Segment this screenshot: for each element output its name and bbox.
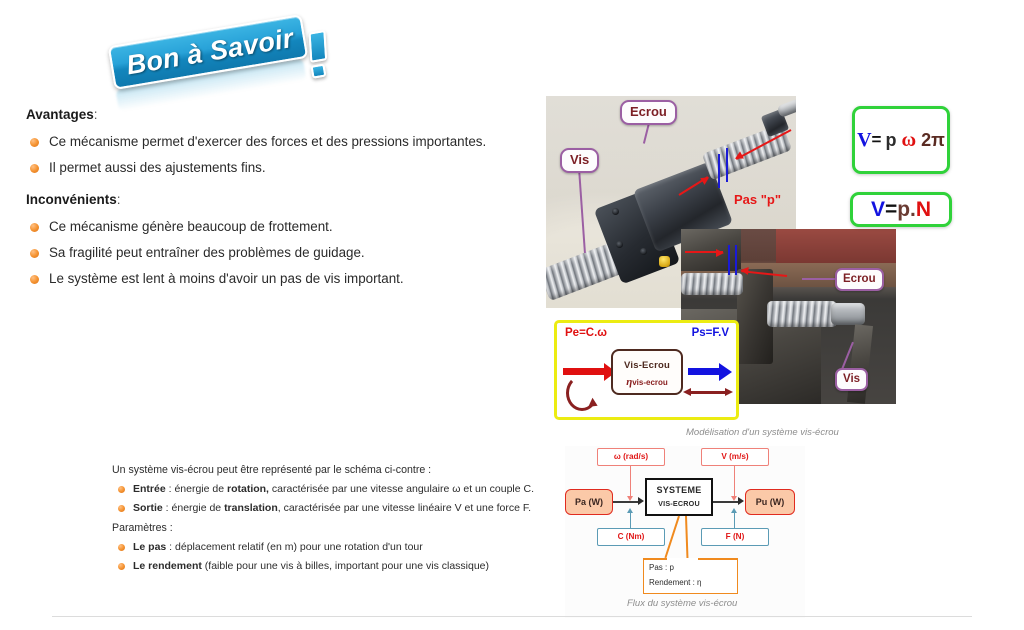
translation-label: translation — [224, 502, 278, 514]
left-text-column: Avantages: Ce mécanisme permet d'exercer… — [26, 105, 546, 301]
io-list: Entrée : énergie de rotation, caractéris… — [112, 480, 562, 518]
advantages-colon: : — [94, 107, 98, 122]
bottom-intro: Un système vis-écrou peut être représent… — [112, 462, 562, 479]
vise-screw-right — [767, 301, 837, 327]
formula-omega-symbol: ω — [901, 129, 916, 151]
pitch-arrow-left — [685, 251, 723, 253]
drawbacks-list: Ce mécanisme génère beaucoup de frotteme… — [26, 214, 546, 292]
grease-nipple — [659, 256, 670, 267]
formula-p-symbol: p — [885, 130, 896, 150]
input-power-arrow — [563, 368, 605, 375]
screw-end-shaft — [777, 98, 796, 118]
flow-box-omega: ω (rad/s) — [597, 448, 665, 466]
formula-vpn-box: V=p.N — [850, 192, 952, 227]
flow-box-pa: Pa (W) — [565, 489, 613, 515]
parameters-list: Le pas : déplacement relatif (en m) pour… — [112, 538, 562, 576]
list-item: Ce mécanisme génère beaucoup de frotteme… — [26, 214, 546, 240]
pitch-bar-left — [728, 245, 730, 275]
flange-bolt-hole — [616, 241, 623, 248]
formula-v-symbol: V — [857, 129, 871, 152]
drawback-text: Sa fragilité peut entraîner des problème… — [49, 245, 365, 260]
formula2-p-symbol: p. — [897, 198, 916, 222]
pitch-bar-right — [726, 148, 728, 182]
exclamation-stem — [309, 30, 328, 63]
callout-ecrou-top: Ecrou — [620, 100, 677, 125]
entree-label: Entrée — [133, 483, 166, 495]
flow-caption: Flux du système vis-écrou — [627, 598, 737, 609]
input-power-label: Pe=C.ω — [565, 327, 607, 339]
advantages-heading-label: Avantages — [26, 107, 94, 122]
orange-params-line2: Rendement : η — [649, 576, 701, 589]
flange-bolt-hole — [612, 208, 619, 215]
advantage-text: Ce mécanisme permet d'exercer des forces… — [49, 134, 486, 149]
orange-params-line1: Pas : p — [649, 561, 674, 574]
rendement-description: (faible pour une vis à billes, important… — [202, 560, 489, 572]
list-item: Le système est lent à moins d'avoir un p… — [26, 266, 546, 292]
pitch-bar-left — [718, 154, 720, 188]
advantage-text: Il permet aussi des ajustements fins. — [49, 160, 266, 175]
bullet-icon — [30, 249, 39, 258]
orange-leader-right — [685, 516, 688, 560]
system-subtitle: VIS-ECROU — [658, 499, 700, 509]
callout-vis-bottom: Vis — [835, 368, 868, 391]
drawback-text: Ce mécanisme génère beaucoup de frotteme… — [49, 219, 333, 234]
bullet-icon — [118, 486, 125, 493]
vise-background-wall — [776, 229, 896, 263]
flow-arrow-f — [731, 508, 737, 513]
vis-ecrou-efficiency: ηvis-ecrou — [613, 376, 681, 388]
formula2-equals: = — [885, 198, 897, 222]
formula-speed-box: V= p ω 2π — [852, 106, 950, 174]
sortie-label: Sortie — [133, 502, 163, 514]
list-item: Il permet aussi des ajustements fins. — [26, 155, 546, 181]
flow-box-c: C (Nm) — [597, 528, 665, 546]
pitch-bar-right — [735, 245, 737, 275]
drawbacks-colon: : — [117, 192, 121, 207]
bullet-icon — [30, 164, 39, 173]
translation-double-arrow-icon — [691, 391, 725, 394]
callout-vis-top: Vis — [560, 148, 599, 173]
sortie-text-a: : énergie de — [163, 502, 224, 514]
list-item: Sortie : énergie de translation, caracté… — [112, 499, 562, 518]
rotation-label: rotation, — [227, 483, 269, 495]
flow-link-pa-system — [613, 501, 639, 503]
bullet-icon — [118, 544, 125, 551]
exclamation-dot — [310, 64, 326, 79]
pas-label-bold: Le pas — [133, 541, 166, 553]
bullet-icon — [118, 505, 125, 512]
orange-box-top-left — [643, 558, 667, 560]
vise-handle — [847, 324, 873, 403]
bullet-icon — [30, 275, 39, 284]
orange-leader-left — [664, 516, 679, 558]
flow-arrow-pu — [738, 497, 744, 505]
vis-ecrou-block: Vis-Ecrou ηvis-ecrou — [611, 349, 683, 395]
formula-equals: = — [872, 130, 882, 150]
page-root: Bon à Savoir Avantages: Ce mécanisme per… — [0, 0, 1024, 630]
drawback-text: Le système est lent à moins d'avoir un p… — [49, 271, 404, 286]
vise-jaw-back — [681, 229, 741, 271]
formula-numerator: p ω — [885, 130, 921, 150]
power-flow-diagram: Pe=C.ω Ps=F.V Vis-Ecrou ηvis-ecrou — [554, 320, 739, 420]
rotation-arrow-icon — [566, 375, 598, 411]
drawbacks-heading-label: Inconvénients — [26, 192, 117, 207]
formula2-n-symbol: N — [916, 198, 931, 222]
flow-link-c — [630, 512, 631, 528]
vis-ecrou-title: Vis-Ecrou — [613, 360, 681, 371]
flow-box-v: V (m/s) — [701, 448, 769, 466]
output-power-label: Ps=F.V — [692, 327, 729, 339]
parametres-heading: Paramètres : — [112, 520, 562, 537]
bon-a-savoir-banner: Bon à Savoir — [104, 8, 344, 98]
bullet-icon — [118, 563, 125, 570]
flow-box-f: F (N) — [701, 528, 769, 546]
flow-link-f — [734, 512, 735, 528]
list-item: Le rendement (faible pour une vis à bill… — [112, 557, 562, 576]
modelisation-caption: Modélisation d'un système vis-écrou — [686, 427, 839, 438]
rendement-label-bold: Le rendement — [133, 560, 202, 572]
formula-fraction: p ω 2π — [885, 130, 944, 151]
list-item: Sa fragilité peut entraîner des problème… — [26, 240, 546, 266]
entree-text-b: caractérisée par une vitesse angulaire ω… — [269, 483, 534, 495]
flow-link-system-pu — [713, 501, 739, 503]
entree-text-a: : énergie de — [166, 483, 227, 495]
page-divider — [52, 616, 972, 617]
flange-bolt-hole — [640, 248, 647, 255]
advantages-list: Ce mécanisme permet d'exercer des forces… — [26, 129, 546, 181]
callout-ecrou-bottom: Ecrou — [835, 268, 884, 291]
output-power-arrow — [688, 368, 720, 375]
flow-arrow-c — [627, 508, 633, 513]
list-item: Ce mécanisme permet d'exercer des forces… — [26, 129, 546, 155]
list-item: Le pas : déplacement relatif (en m) pour… — [112, 538, 562, 557]
flow-diagram: ω (rad/s) V (m/s) Pa (W) Pu (W) SYSTEME … — [565, 446, 805, 618]
bottom-description-block: Un système vis-écrou peut être représent… — [112, 462, 562, 578]
flow-arrow-pa — [638, 497, 644, 505]
pas-description: : déplacement relatif (en m) pour une ro… — [166, 541, 422, 553]
flow-link-omega — [630, 466, 631, 498]
list-item: Entrée : énergie de rotation, caractéris… — [112, 480, 562, 499]
eta-subscript: vis-ecrou — [632, 378, 668, 387]
flow-box-pu: Pu (W) — [745, 489, 795, 515]
drawbacks-heading: Inconvénients: — [26, 190, 546, 210]
advantages-heading: Avantages: — [26, 105, 546, 125]
sortie-text-b: , caractérisée par une vitesse linéaire … — [278, 502, 531, 514]
vise-screw-left — [681, 273, 743, 295]
orange-box-top-right — [698, 558, 738, 560]
flow-box-system: SYSTEME VIS-ECROU — [645, 478, 713, 516]
formula2-v-symbol: V — [871, 198, 885, 222]
formula-denominator: 2π — [921, 130, 945, 150]
vise-screw-end — [831, 303, 865, 325]
flow-link-v — [734, 466, 735, 498]
pitch-label: Pas "p" — [734, 192, 781, 207]
bullet-icon — [30, 138, 39, 147]
system-title: SYSTEME — [656, 485, 701, 495]
bullet-icon — [30, 223, 39, 232]
banner-exclamation-icon — [304, 29, 338, 83]
